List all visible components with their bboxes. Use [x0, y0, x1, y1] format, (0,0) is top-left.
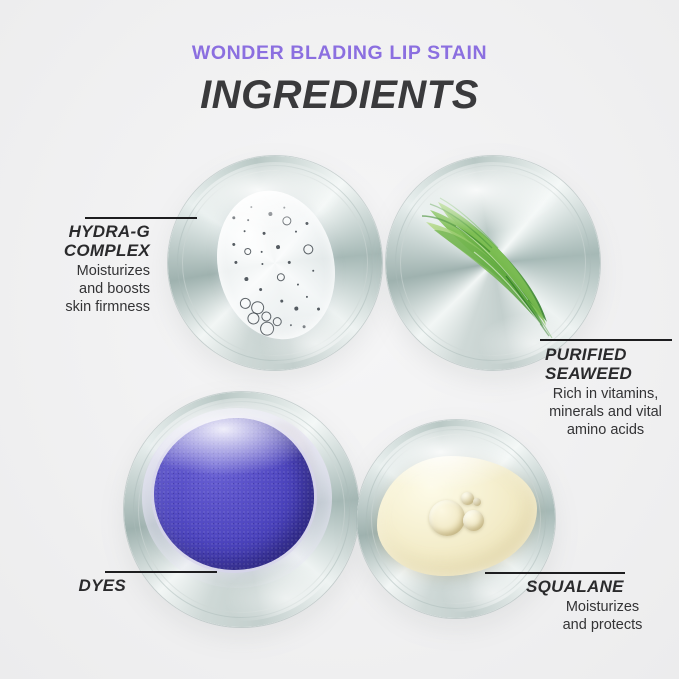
callout-desc-line-3: skin firmness — [0, 299, 150, 317]
callout-desc-line-2: and protects — [526, 617, 679, 635]
petri-dish-purified-seaweed — [386, 156, 600, 370]
ingredients-infographic: WONDER BLADING LIP STAIN INGREDIENTS — [0, 0, 679, 679]
callout-title-seaweed: PURIFIED SEAWEED — [532, 345, 679, 383]
oil-droplet-large — [429, 500, 465, 536]
callout-title-line-2: COMPLEX — [0, 241, 150, 260]
callout-hydra-g-complex: HYDRA-G COMPLEX Moisturizes and boosts s… — [0, 222, 150, 317]
leader-line-dyes — [105, 571, 217, 573]
callout-desc-line-2: and boosts — [0, 281, 150, 299]
seaweed-icon — [386, 156, 600, 370]
blue-powder-mound — [154, 418, 314, 570]
callout-desc-line-1: Rich in vitamins, — [532, 386, 679, 404]
oil-droplet-small — [461, 492, 474, 505]
callout-squalane: SQUALANE Moisturizes and protects — [482, 577, 679, 635]
callout-title-squalane: SQUALANE — [482, 577, 679, 596]
callout-title-line-1: HYDRA-G — [0, 222, 150, 241]
page-title: INGREDIENTS — [0, 75, 679, 115]
callout-desc-seaweed: Rich in vitamins, minerals and vital ami… — [532, 386, 679, 440]
leader-line-hydra — [85, 217, 197, 219]
callout-purified-seaweed: PURIFIED SEAWEED Rich in vitamins, miner… — [532, 345, 679, 440]
callout-title-dyes: DYES — [0, 576, 170, 595]
leader-line-squalane — [485, 572, 625, 574]
callout-title-line-1: PURIFIED — [545, 345, 679, 364]
oil-droplet-tiny — [473, 498, 481, 506]
callout-title-hydra: HYDRA-G COMPLEX — [0, 222, 150, 260]
callout-title-line-2: SEAWEED — [545, 364, 679, 383]
oil-droplet-medium — [463, 510, 484, 531]
powder-grain-texture — [154, 418, 314, 570]
callout-desc-line-1: Moisturizes — [0, 263, 150, 281]
callout-desc-line-2: minerals and vital — [532, 404, 679, 422]
callout-title-line-1: DYES — [0, 576, 126, 595]
header: WONDER BLADING LIP STAIN INGREDIENTS — [0, 0, 679, 115]
gel-blob — [203, 179, 350, 351]
callout-desc-squalane: Moisturizes and protects — [482, 599, 679, 635]
callout-desc-line-1: Moisturizes — [526, 599, 679, 617]
callout-desc-line-3: amino acids — [532, 422, 679, 440]
leader-line-seaweed — [540, 339, 672, 341]
callout-dyes: DYES — [0, 576, 170, 595]
product-name-eyebrow: WONDER BLADING LIP STAIN — [0, 44, 679, 64]
callout-title-line-1: SQUALANE — [526, 577, 679, 596]
petri-dish-hydra-g-complex — [168, 156, 382, 370]
callout-desc-hydra: Moisturizes and boosts skin firmness — [0, 263, 150, 317]
oil-puddle — [377, 456, 537, 576]
